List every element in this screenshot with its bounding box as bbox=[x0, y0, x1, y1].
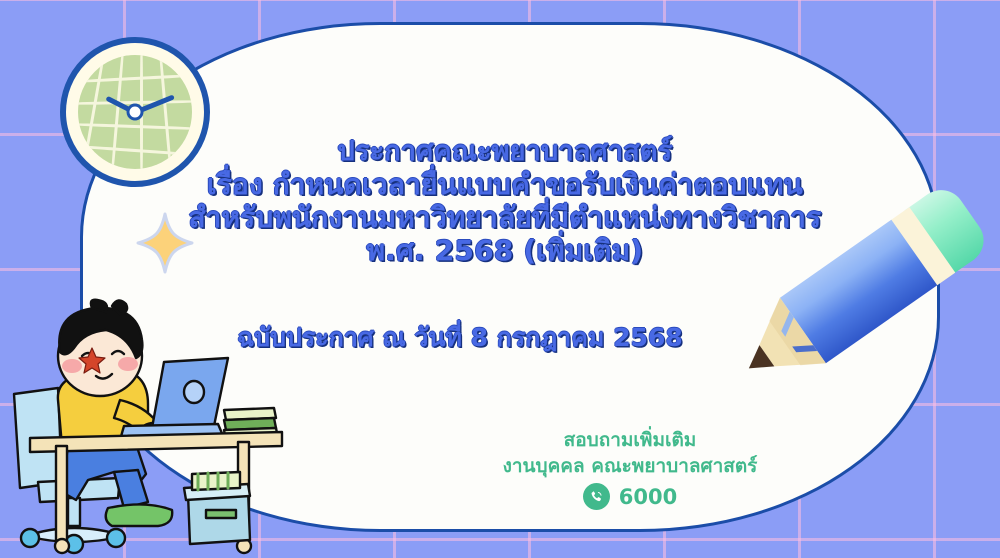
headline-line-1: ประกาศคณะพยาบาลศาสตร์ bbox=[110, 136, 900, 168]
phone-icon bbox=[583, 483, 610, 510]
clock-pivot bbox=[127, 104, 144, 121]
contact-block: สอบถามเพิ่มเติม งานบุคคล คณะพยาบาลศาสตร์… bbox=[430, 428, 830, 510]
contact-heading: สอบถามเพิ่มเติม bbox=[430, 428, 830, 454]
phone-number: 6000 bbox=[619, 485, 677, 509]
headline-line-4: พ.ศ. 2568 (เพิ่มเติม) bbox=[110, 234, 900, 267]
headline-block: ประกาศคณะพยาบาลศาสตร์ เรื่อง กำหนดเวลายื… bbox=[110, 136, 900, 267]
contact-phone-row: 6000 bbox=[430, 483, 830, 510]
headline-line-2: เรื่อง กำหนดเวลายื่นแบบคำขอรับเงินค่าตอบ… bbox=[110, 168, 900, 201]
publication-date: ฉบับประกาศ ณ วันที่ 8 กรกฎาคม 2568 bbox=[110, 318, 810, 358]
headline-line-3: สำหรับพนักงานมหาวิทยาลัยที่มีตำแหน่งทางว… bbox=[110, 201, 900, 234]
contact-department: งานบุคคล คณะพยาบาลศาสตร์ bbox=[430, 454, 830, 480]
poster-canvas: ประกาศคณะพยาบาลศาสตร์ เรื่อง กำหนดเวลายื… bbox=[0, 0, 1000, 558]
